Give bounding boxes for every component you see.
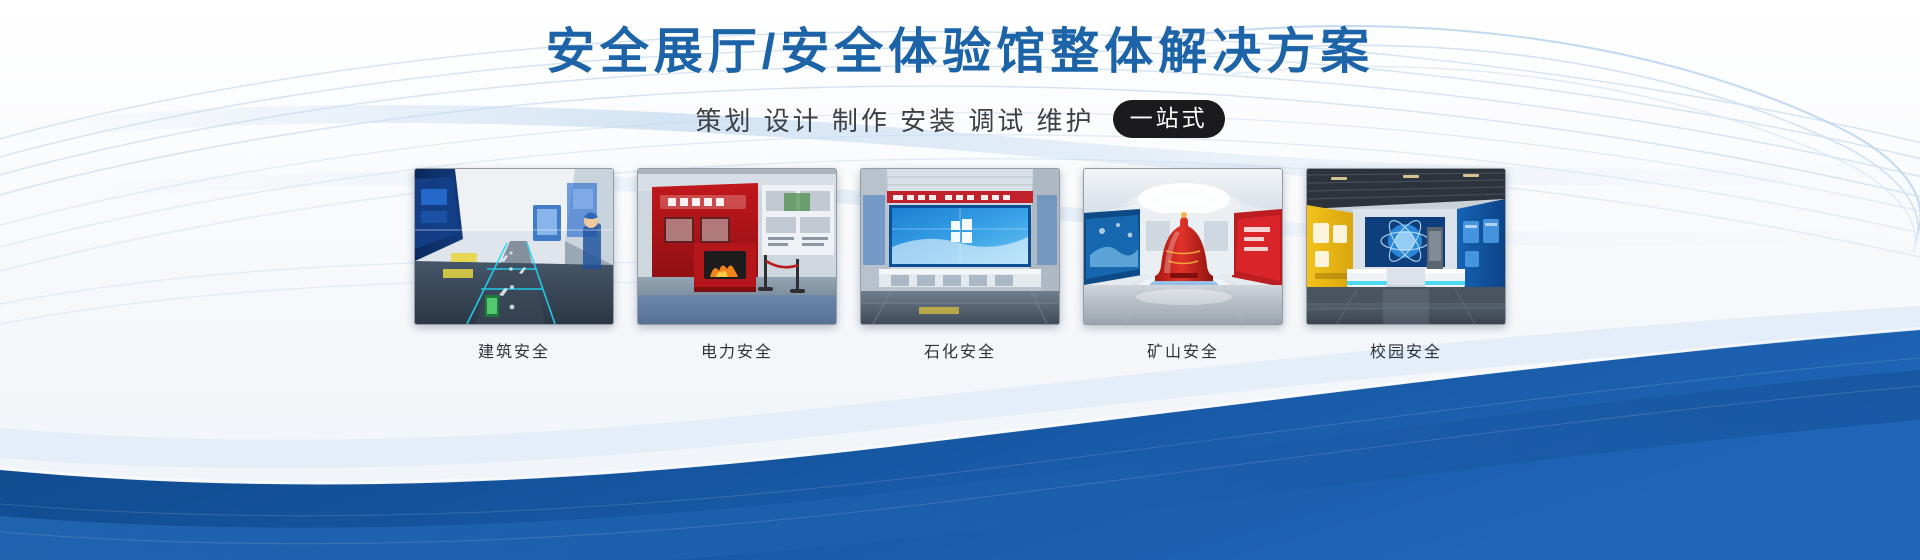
thumbnail-label: 校园安全 [1370, 338, 1442, 362]
service-steps-text: 策划 设计 制作 安装 调试 维护 [695, 101, 1094, 138]
thumbnail-item[interactable]: 矿山安全 [1084, 168, 1282, 362]
led-screen-hall-thumbnail[interactable] [860, 168, 1060, 325]
thumbnail-gallery: 建筑安全 [0, 168, 1920, 362]
thumbnail-item[interactable]: 建筑安全 [415, 168, 613, 362]
thumbnail-label: 石化安全 [924, 338, 996, 362]
page-title: 安全展厅/安全体验馆整体解决方案 [0, 24, 1920, 82]
thumbnail-label: 建筑安全 [478, 338, 550, 362]
yellow-blue-corridor-thumbnail[interactable] [1306, 168, 1506, 325]
thumbnail-label: 矿山安全 [1147, 338, 1219, 362]
safety-exhibition-banner: 安全展厅/安全体验馆整体解决方案 策划 设计 制作 安装 调试 维护 一站式 [0, 0, 1920, 560]
thumbnail-item[interactable]: 校园安全 [1307, 168, 1505, 362]
thumbnail-label: 电力安全 [701, 338, 773, 362]
one-stop-badge: 一站式 [1113, 100, 1225, 138]
subtitle-row: 策划 设计 制作 安装 调试 维护 一站式 [0, 100, 1920, 138]
thumbnail-item[interactable]: 电力安全 [638, 168, 836, 362]
exhibition-corridor-thumbnail[interactable] [414, 168, 614, 325]
red-fire-equipment-hall-thumbnail[interactable] [637, 168, 837, 325]
bell-rotunda-hall-thumbnail[interactable] [1083, 168, 1283, 325]
thumbnail-item[interactable]: 石化安全 [861, 168, 1059, 362]
